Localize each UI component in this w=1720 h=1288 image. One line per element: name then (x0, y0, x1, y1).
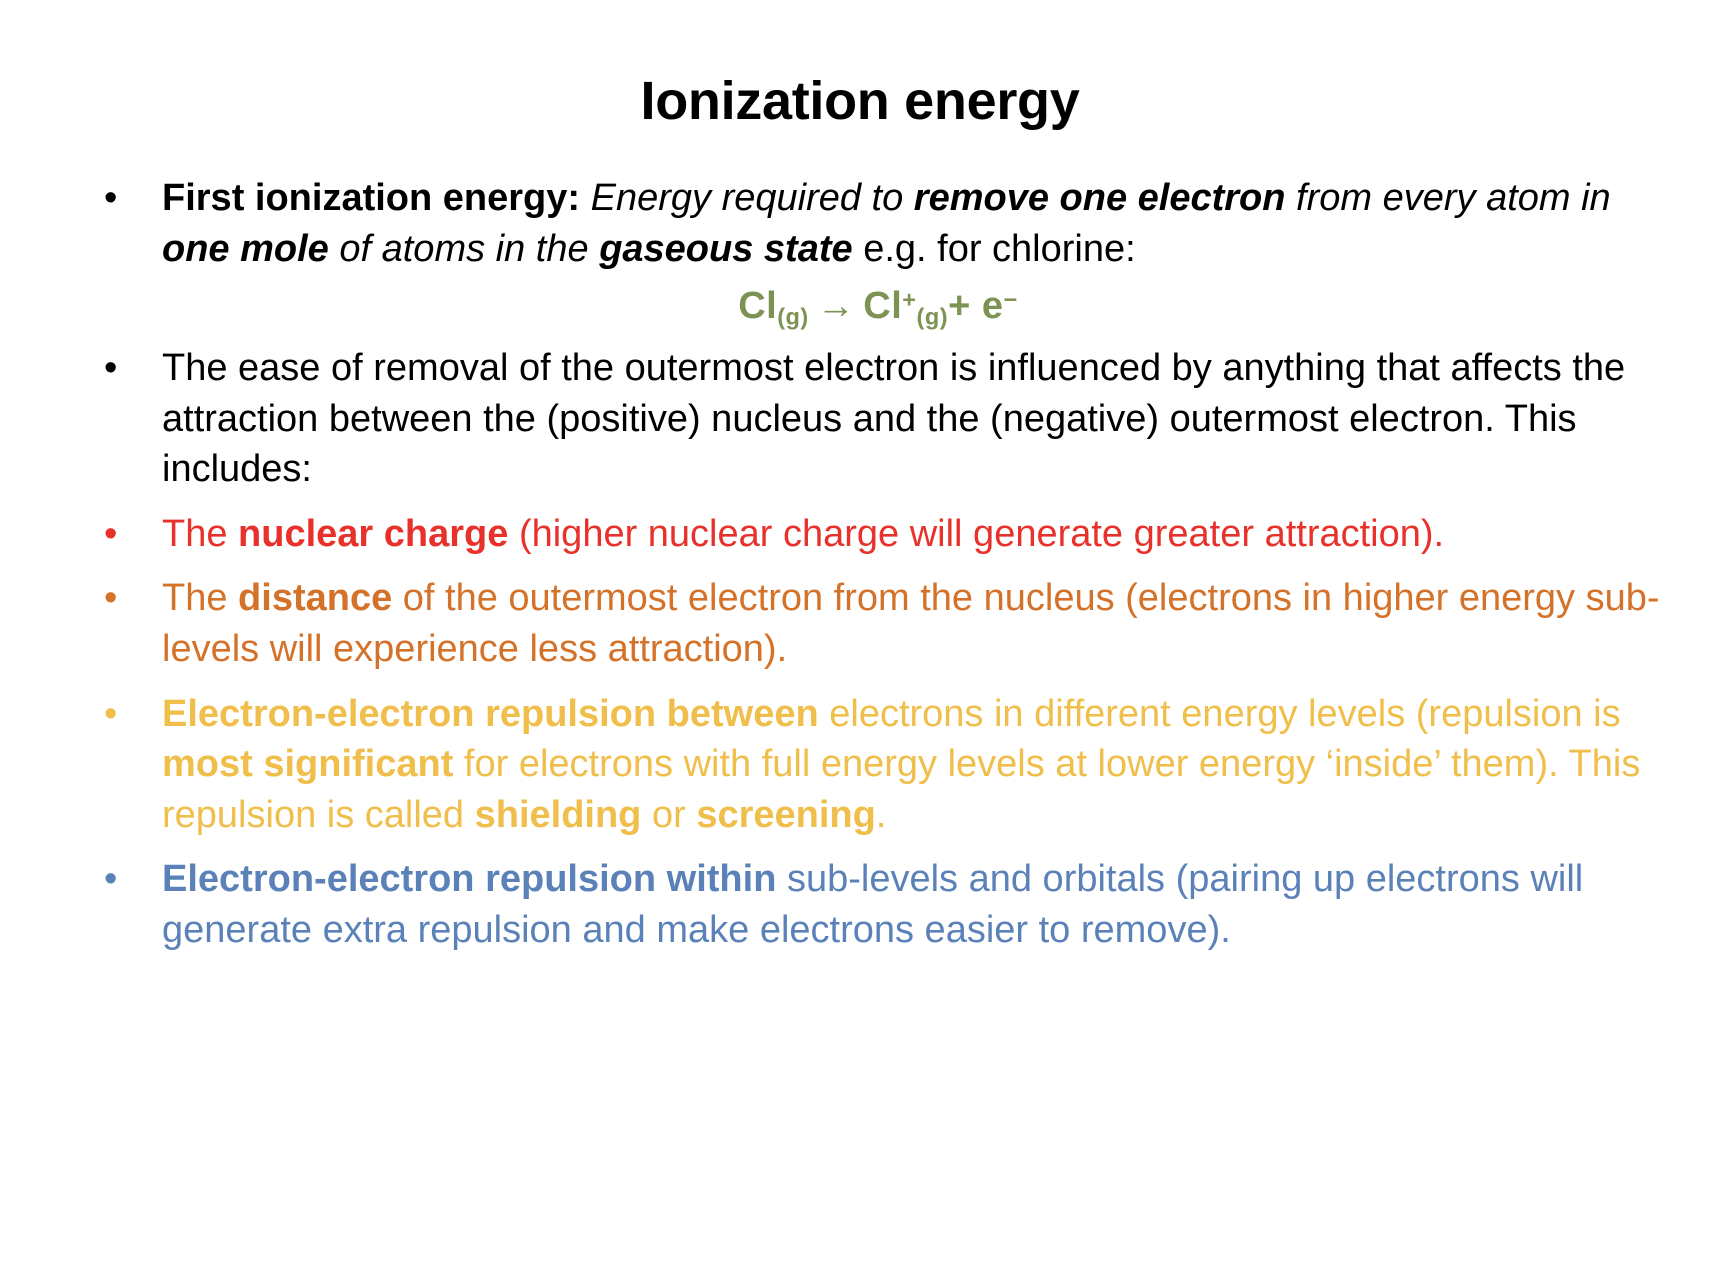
page-title: Ionization energy (0, 0, 1720, 131)
bullet-italic-run-2: from every atom in (1285, 177, 1610, 219)
slide-canvas: Ionization energy • First ionization ene… (0, 0, 1720, 1288)
bullet-prefix-run: The (162, 577, 238, 619)
equation-plus: + (948, 285, 971, 327)
bullet-term-label: First ionization energy: (162, 177, 580, 219)
equation-product-charge: + (902, 287, 916, 313)
equation-reactant: Cl (738, 285, 777, 327)
bullet-prefix-run: The (162, 513, 238, 555)
bullet-space (580, 177, 591, 219)
equation-product: Cl (863, 285, 902, 327)
bullet-mid-run-3: or (641, 794, 696, 836)
bullet-marker-icon: • (104, 689, 117, 740)
bullet-nuclear-charge: • The nuclear charge (higher nuclear cha… (96, 509, 1660, 560)
bullet-emphasis-most-significant: most significant (162, 743, 453, 785)
bullet-italic-run-3: of atoms in the (329, 228, 599, 270)
chemical-equation: Cl(g)→Cl+(g)+ e− (96, 284, 1660, 331)
bullet-emphasis-remove-one-electron: remove one electron (914, 177, 1286, 219)
bullet-emphasis-screening: screening (696, 794, 876, 836)
bullet-suffix-run: (higher nuclear charge will generate gre… (508, 513, 1444, 555)
slide-body: • First ionization energy: Energy requir… (0, 173, 1720, 955)
bullet-distance: • The distance of the outermost electron… (96, 573, 1660, 674)
bullet-marker-icon: • (104, 854, 117, 905)
bullet-emphasis-gaseous-state: gaseous state (599, 228, 852, 270)
bullet-marker-icon: • (104, 573, 117, 624)
bullet-marker-icon: • (104, 173, 117, 224)
equation-electron-charge: − (1004, 287, 1018, 313)
bullet-tail-run: . (876, 794, 887, 836)
equation-arrow-icon: → (809, 285, 864, 327)
bullet-emphasis-distance: distance (238, 577, 392, 619)
equation-electron: e (982, 285, 1004, 327)
equation-product-state: (g) (917, 304, 949, 330)
bullet-list: • First ionization energy: Energy requir… (96, 173, 1660, 955)
bullet-text: The ease of removal of the outermost ele… (162, 347, 1625, 490)
bullet-tail-run: e.g. for chlorine: (853, 228, 1136, 270)
bullet-repulsion-within: • Electron-electron repulsion within sub… (96, 854, 1660, 955)
bullet-mid-run-1: electrons in different energy levels (re… (819, 693, 1621, 735)
bullet-repulsion-between: • Electron-electron repulsion between el… (96, 689, 1660, 841)
equation-row: Cl(g)→Cl+(g)+ e− (96, 284, 1660, 331)
bullet-emphasis-repulsion-between: Electron-electron repulsion between (162, 693, 819, 735)
bullet-emphasis-nuclear-charge: nuclear charge (238, 513, 508, 555)
bullet-italic-run-1: Energy required to (591, 177, 914, 219)
bullet-emphasis-shielding: shielding (475, 794, 642, 836)
bullet-ease-of-removal: • The ease of removal of the outermost e… (96, 343, 1660, 495)
bullet-marker-icon: • (104, 509, 117, 560)
bullet-emphasis-repulsion-within: Electron-electron repulsion within (162, 858, 776, 900)
bullet-first-ionization-energy: • First ionization energy: Energy requir… (96, 173, 1660, 274)
equation-reactant-state: (g) (777, 304, 809, 330)
bullet-marker-icon: • (104, 343, 117, 394)
bullet-emphasis-one-mole: one mole (162, 228, 329, 270)
